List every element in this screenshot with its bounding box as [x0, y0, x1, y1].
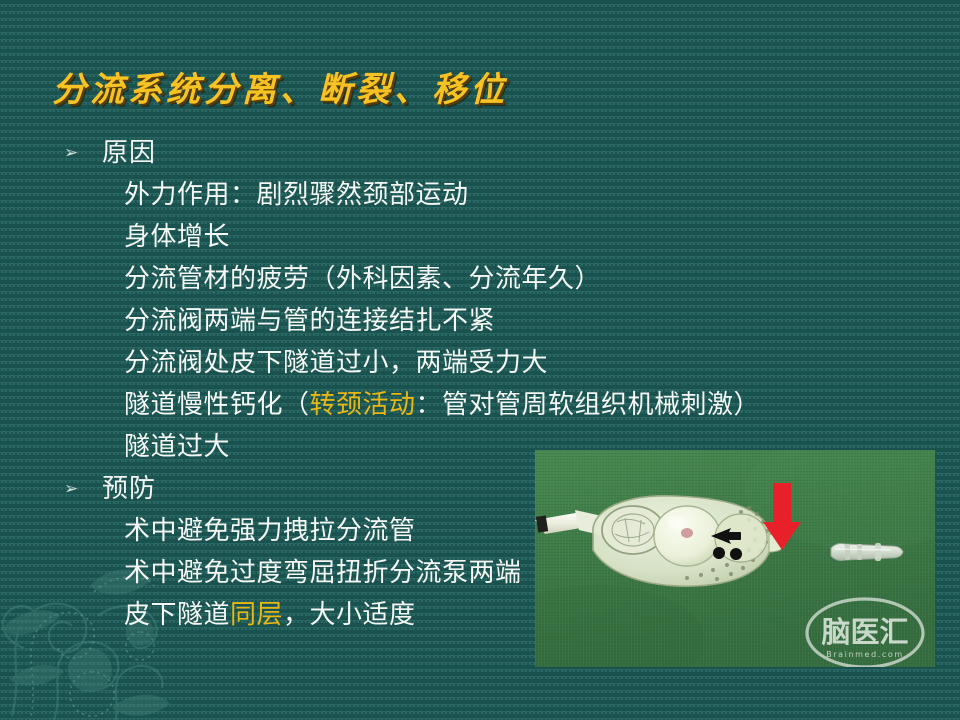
slide-canvas: 分流系统分离、断裂、移位 ➢ 原因 外力作用：剧烈骤然颈部运动 身体增长 分流管…: [0, 0, 960, 720]
detached-connector: [831, 543, 903, 561]
cause-item-6-pre: 隧道慢性钙化（: [124, 390, 310, 419]
prevention-item-3-pre: 皮下隧道: [124, 600, 230, 629]
cause-item-6-highlight: 转颈活动: [310, 390, 416, 419]
watermark-sub: Brainmed.com: [826, 650, 904, 659]
heading-prevention-label: 预防: [102, 468, 156, 505]
bullet-arrow-icon: ➢: [64, 144, 102, 161]
heading-causes-label: 原因: [102, 132, 156, 169]
cause-item-6-post: ：管对管周软组织机械刺激）: [416, 390, 761, 419]
bullet-arrow-icon: ➢: [64, 480, 102, 497]
prevention-item-3-post: ，大小适度: [283, 600, 416, 629]
cause-item-6: 隧道慢性钙化（转颈活动：管对管周软组织机械刺激）: [0, 384, 960, 426]
slide-title: 分流系统分离、断裂、移位: [52, 62, 508, 111]
cause-item-5: 分流阀处皮下隧道过小，两端受力大: [0, 342, 960, 384]
cause-item-4: 分流阀两端与管的连接结扎不紧: [0, 300, 960, 342]
watermark-text: 脑医汇: [821, 615, 908, 649]
cause-item-3: 分流管材的疲劳（外科因素、分流年久）: [0, 258, 960, 300]
clinical-photo: 脑医汇 Brainmed.com: [535, 450, 935, 667]
cause-item-2: 身体增长: [0, 216, 960, 258]
cause-item-1: 外力作用：剧烈骤然颈部运动: [0, 174, 960, 216]
prevention-item-3-highlight: 同层: [230, 600, 283, 629]
heading-causes: ➢ 原因: [0, 132, 960, 174]
